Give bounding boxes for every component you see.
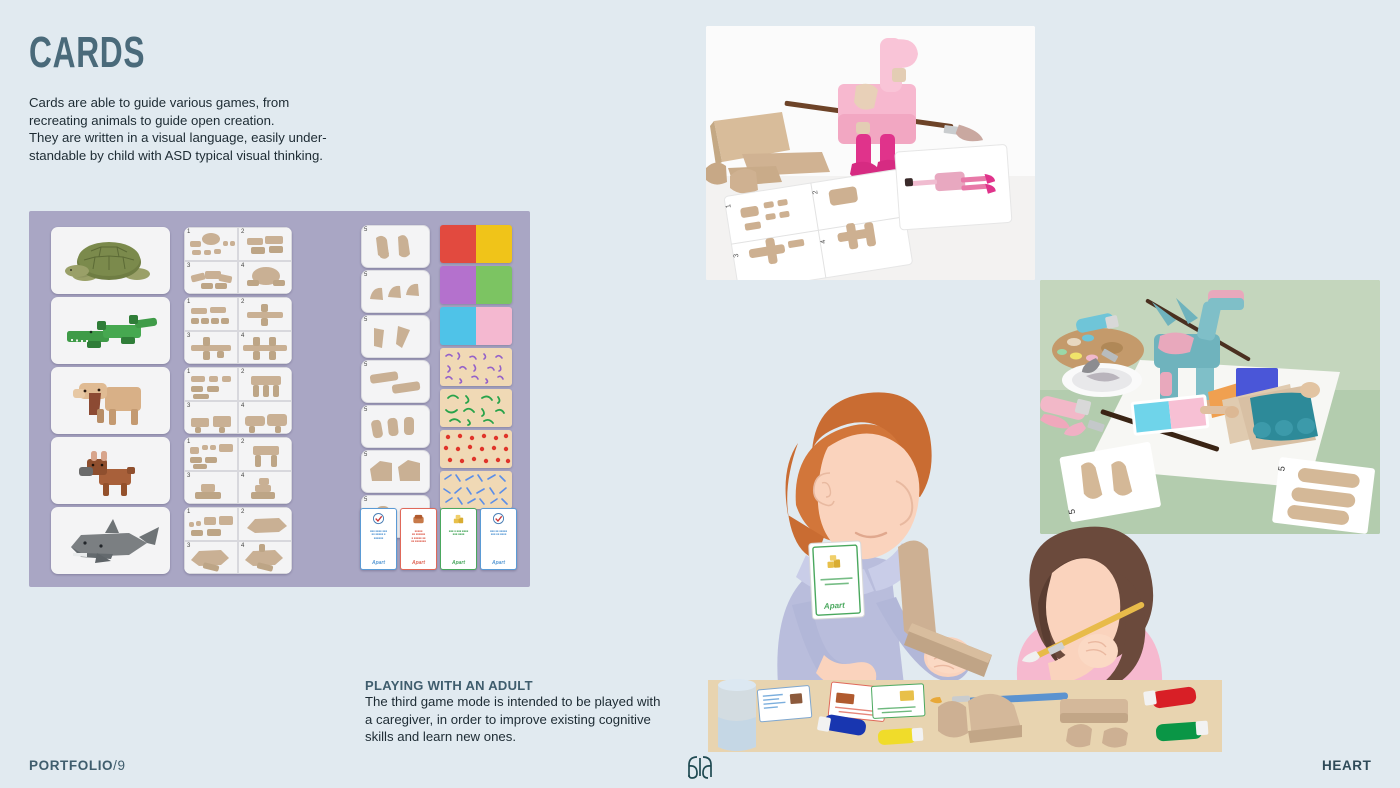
step-number: 2 — [241, 228, 244, 236]
mini-game-card[interactable]: ■■■ ■■ ■■■■■■■■ ■■ ■■■■ Apart — [480, 508, 517, 570]
piece-card-column: 5 5 5 5 5 5 5 — [361, 225, 430, 540]
step-quadrant: 1 — [184, 367, 238, 401]
step-number: 1 — [187, 438, 190, 446]
step-number: 3 — [187, 402, 190, 410]
step-number: 3 — [187, 472, 190, 480]
step-number: 3 — [187, 262, 190, 270]
piece-card[interactable]: 5 — [361, 270, 430, 313]
dog-small-icon — [51, 437, 170, 504]
color-swatch-card[interactable] — [440, 225, 512, 263]
caption-body: The third game mode is intended to be pl… — [365, 693, 697, 746]
piece-card[interactable]: 5 — [361, 450, 430, 493]
card-text: ■■■■■■■ ■■■■■■■ ■■■■■ ■■■■ ■■■■■■■ — [404, 530, 434, 544]
page-title: CARDS — [29, 31, 145, 75]
shark-icon — [51, 507, 170, 574]
green-arcs-icon — [440, 389, 512, 427]
mini-game-card[interactable]: ■■■■■■■ ■■■■■■■ ■■■■■ ■■■■ ■■■■■■■ Apart — [400, 508, 437, 570]
step-number: 1 — [187, 508, 190, 516]
pattern-card-green-arcs[interactable] — [440, 389, 512, 427]
flamingo-scene-illustration: 1 2 3 4 — [706, 26, 1035, 280]
dog-large-icon — [51, 367, 170, 434]
step-card[interactable]: 1 2 3 4 — [184, 437, 292, 504]
piece-number: 5 — [364, 361, 367, 369]
step-quadrant: 4 — [238, 401, 292, 435]
playing-with-adult-scene: Apart — [700, 355, 1240, 755]
turtle-icon — [51, 227, 170, 294]
logo-icon — [683, 753, 717, 781]
step-card[interactable]: 1 2 3 4 — [184, 507, 292, 574]
piece-shape-icon — [362, 406, 430, 448]
purple-arcs-icon — [440, 348, 512, 386]
card-brand: Apart — [361, 560, 396, 566]
swatch-half-right — [476, 307, 512, 345]
flamingo-toy-photo[interactable]: 1 2 3 4 — [706, 26, 1035, 280]
piece-number: 5 — [364, 451, 367, 459]
step-quadrant: 3 — [184, 541, 238, 575]
card-icon — [491, 512, 506, 527]
animal-card-dog-large[interactable] — [51, 367, 170, 434]
animal-card-column — [51, 227, 170, 577]
step-quadrant: 2 — [238, 507, 292, 541]
step-number: 2 — [241, 438, 244, 446]
step-number: 4 — [241, 332, 244, 340]
card-brand: Apart — [441, 560, 476, 566]
step-quadrant: 2 — [238, 367, 292, 401]
step-number: 2 — [241, 298, 244, 306]
step-number: 3 — [187, 332, 190, 340]
swatch-card-column — [440, 225, 512, 512]
card-brand: Apart — [401, 560, 436, 566]
piece-card[interactable]: 5 — [361, 225, 430, 268]
pattern-card-purple-arcs[interactable] — [440, 348, 512, 386]
card-brand: Apart — [481, 560, 516, 566]
step-number: 4 — [241, 472, 244, 480]
piece-card[interactable]: 5 — [361, 405, 430, 448]
piece-shape-icon — [362, 316, 430, 358]
animal-card-shark[interactable] — [51, 507, 170, 574]
card-text: ■■■ ■ ■■■ ■■■■■■■ ■■■■ — [444, 530, 474, 537]
step-card-column: 1 2 3 4 1 2 3 4 — [184, 227, 292, 577]
red-dots-icon — [440, 430, 512, 468]
step-quadrant: 4 — [238, 331, 292, 365]
piece-shape-icon — [362, 271, 430, 313]
footer-left: PORTFOLIO/9 — [29, 758, 126, 773]
step-number: 1 — [187, 228, 190, 236]
animal-card-turtle[interactable] — [51, 227, 170, 294]
footer-right-label: HEART — [1322, 758, 1372, 773]
step-number: 1 — [187, 298, 190, 306]
card-text: ■■■ ■■■■ ■■■■■ ■■■■■ ■■■■■■■ — [364, 530, 394, 540]
step-number: 3 — [187, 542, 190, 550]
step-number: 4 — [241, 402, 244, 410]
footer-page-number: /9 — [113, 758, 125, 773]
step-quadrant: 2 — [238, 297, 292, 331]
blue-dashes-icon — [440, 471, 512, 509]
step-quadrant: 1 — [184, 507, 238, 541]
adult-and-child-illustration: Apart — [700, 355, 1240, 755]
swatch-half-right — [476, 225, 512, 263]
swatch-half-left — [440, 307, 476, 345]
color-swatch-card[interactable] — [440, 307, 512, 345]
piece-number: 5 — [364, 226, 367, 234]
step-card[interactable]: 1 2 3 4 — [184, 367, 292, 434]
card-icon — [451, 512, 466, 527]
animal-card-dog-small[interactable] — [51, 437, 170, 504]
step-quadrant: 1 — [184, 297, 238, 331]
animal-card-crocodile[interactable] — [51, 297, 170, 364]
step-quadrant: 3 — [184, 471, 238, 505]
mini-game-card-row: ■■■ ■■■■ ■■■■■ ■■■■■ ■■■■■■■ Apart ■■■■■… — [360, 508, 517, 570]
step-number: 2 — [241, 508, 244, 516]
step-quadrant: 4 — [238, 541, 292, 575]
piece-number: 5 — [364, 271, 367, 279]
step-quadrant: 1 — [184, 437, 238, 471]
piece-shape-icon — [362, 451, 430, 493]
card-text: ■■■ ■■ ■■■■■■■■ ■■ ■■■■ — [484, 530, 514, 537]
piece-number: 5 — [364, 406, 367, 414]
step-quadrant: 4 — [238, 471, 292, 505]
piece-number: 5 — [364, 316, 367, 324]
crocodile-icon — [51, 297, 170, 364]
mini-game-card[interactable]: ■■■ ■■■■ ■■■■■ ■■■■■ ■■■■■■■ Apart — [360, 508, 397, 570]
step-number: 4 — [241, 542, 244, 550]
caption-heading: PLAYING WITH AN ADULT — [365, 678, 697, 693]
pattern-card-blue-dashes[interactable] — [440, 471, 512, 509]
step-card[interactable]: 1 2 3 4 — [184, 227, 292, 294]
piece-shape-icon — [362, 361, 430, 403]
intro-paragraph: Cards are able to guide various games, f… — [29, 94, 369, 164]
swatch-half-right — [476, 266, 512, 304]
swatch-half-left — [440, 266, 476, 304]
step-quadrant: 1 — [184, 227, 238, 261]
piece-card[interactable]: 5 — [361, 315, 430, 358]
step-number: 4 — [241, 262, 244, 270]
step-number: 2 — [241, 368, 244, 376]
footer-portfolio-label: PORTFOLIO — [29, 758, 113, 773]
caption-block: PLAYING WITH AN ADULT The third game mod… — [365, 678, 697, 746]
step-card[interactable]: 1 2 3 4 — [184, 297, 292, 364]
apart-monogram-logo[interactable] — [683, 753, 717, 781]
piece-shape-icon — [362, 226, 430, 268]
step-quadrant: 4 — [238, 261, 292, 295]
swatch-half-left — [440, 225, 476, 263]
pattern-card-red-dots[interactable] — [440, 430, 512, 468]
step-quadrant: 2 — [238, 227, 292, 261]
step-quadrant: 3 — [184, 331, 238, 365]
step-quadrant: 2 — [238, 437, 292, 471]
piece-number: 5 — [364, 496, 367, 504]
svg-text:Apart: Apart — [823, 601, 846, 611]
card-icon — [371, 512, 386, 527]
color-swatch-card[interactable] — [440, 266, 512, 304]
piece-card[interactable]: 5 — [361, 360, 430, 403]
mini-game-card[interactable]: ■■■ ■ ■■■ ■■■■■■■ ■■■■ Apart — [440, 508, 477, 570]
step-quadrant: 3 — [184, 401, 238, 435]
step-quadrant: 3 — [184, 261, 238, 295]
card-icon — [411, 512, 426, 527]
step-number: 1 — [187, 368, 190, 376]
